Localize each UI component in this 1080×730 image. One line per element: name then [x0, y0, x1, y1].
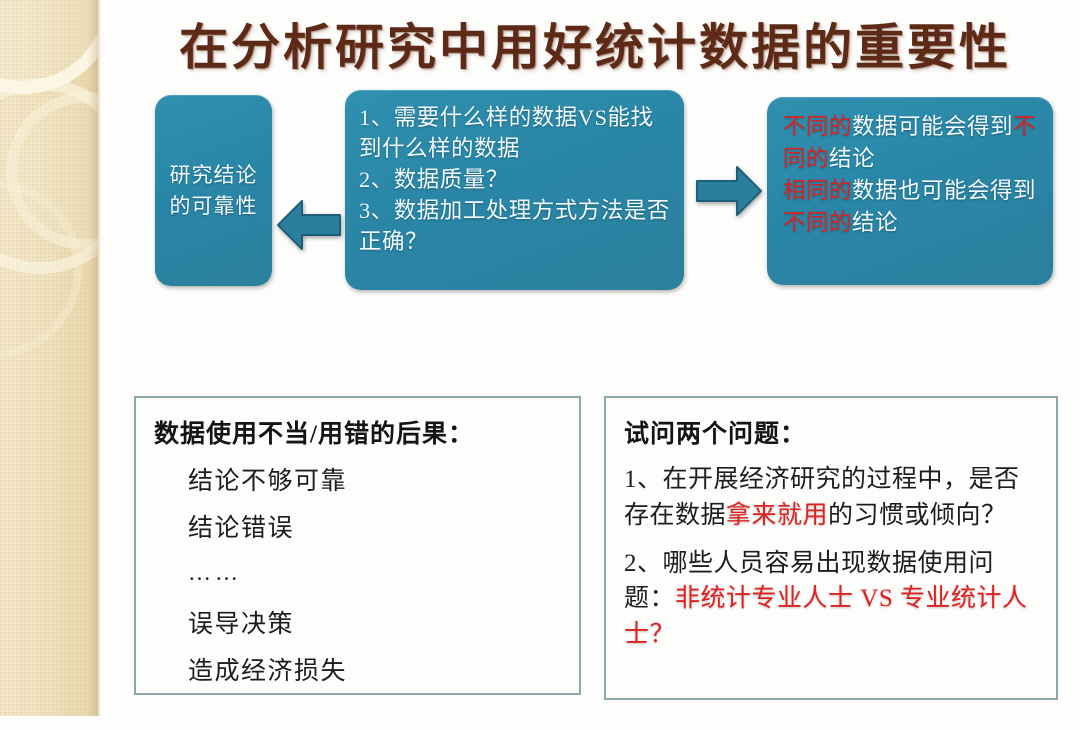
arrow-left-icon: [276, 196, 342, 259]
conclusions-l1-emphasis-1: 不同的: [783, 114, 852, 139]
conclusions-l2-emphasis-1: 相同的: [783, 178, 852, 203]
consequences-box: 数据使用不当/用错的后果： 结论不够可靠 结论错误 …… 误导决策 造成经济损失: [134, 396, 581, 695]
reliability-box-text: 研究结论的可靠性: [165, 160, 262, 221]
conclusions-l2-text-1: 数据也可能会得到: [852, 178, 1036, 203]
conclusions-l2-text-2: 结论: [852, 210, 898, 235]
consequence-item-2: 结论错误: [188, 508, 561, 544]
data-question-line-1: 1、需要什么样的数据VS能找到什么样的数据: [359, 102, 670, 164]
q1-text-2: 的习惯或倾向？: [828, 502, 1007, 529]
arrow-right-icon: [693, 162, 763, 225]
conclusions-line-2: 相同的数据也可能会得到不同的结论: [783, 175, 1041, 239]
consequence-item-ellipsis: ……: [188, 560, 561, 586]
two-questions-box: 试问两个问题： 1、在开展经济研究的过程中，是否存在数据拿来就用的习惯或倾向？ …: [604, 396, 1058, 700]
slide-canvas: 在分析研究中用好统计数据的重要性 研究结论的可靠性 1、需要什么样的数据VS能找…: [0, 0, 1080, 730]
page-title: 在分析研究中用好统计数据的重要性: [120, 8, 1070, 79]
conclusions-l1-text-1: 数据可能会得到: [852, 114, 1013, 139]
reliability-box: 研究结论的可靠性: [155, 95, 272, 286]
two-questions-item-1: 1、在开展经济研究的过程中，是否存在数据拿来就用的习惯或倾向？: [624, 462, 1038, 534]
q1-emphasis: 拿来就用: [726, 502, 828, 529]
consequence-item-1: 结论不够可靠: [188, 461, 561, 497]
consequence-item-5: 造成经济损失: [188, 651, 561, 687]
conclusions-l1-text-2: 结论: [829, 146, 875, 171]
data-questions-box: 1、需要什么样的数据VS能找到什么样的数据 2、数据质量？ 3、数据加工处理方式…: [345, 90, 684, 290]
consequences-heading: 数据使用不当/用错的后果：: [154, 414, 561, 450]
sidebar-shade: [88, 0, 98, 716]
two-questions-item-2: 2、哪些人员容易出现数据使用问题：非统计专业人士 VS 专业统计人士？: [624, 546, 1038, 653]
conclusions-box: 不同的数据可能会得到不同的结论 相同的数据也可能会得到不同的结论: [767, 97, 1053, 285]
sidebar-edge-divider: [98, 0, 101, 716]
conclusions-line-1: 不同的数据可能会得到不同的结论: [783, 111, 1041, 175]
decorative-sidebar: [0, 0, 98, 716]
data-question-line-2: 2、数据质量？: [359, 164, 670, 195]
conclusions-l2-emphasis-2: 不同的: [783, 210, 852, 235]
q2-emphasis: 非统计专业人士 VS 专业统计人士？: [624, 585, 1027, 648]
data-question-line-3: 3、数据加工处理方式方法是否正确？: [359, 195, 670, 257]
two-questions-heading: 试问两个问题：: [624, 414, 1038, 450]
consequence-item-4: 误导决策: [188, 604, 561, 640]
